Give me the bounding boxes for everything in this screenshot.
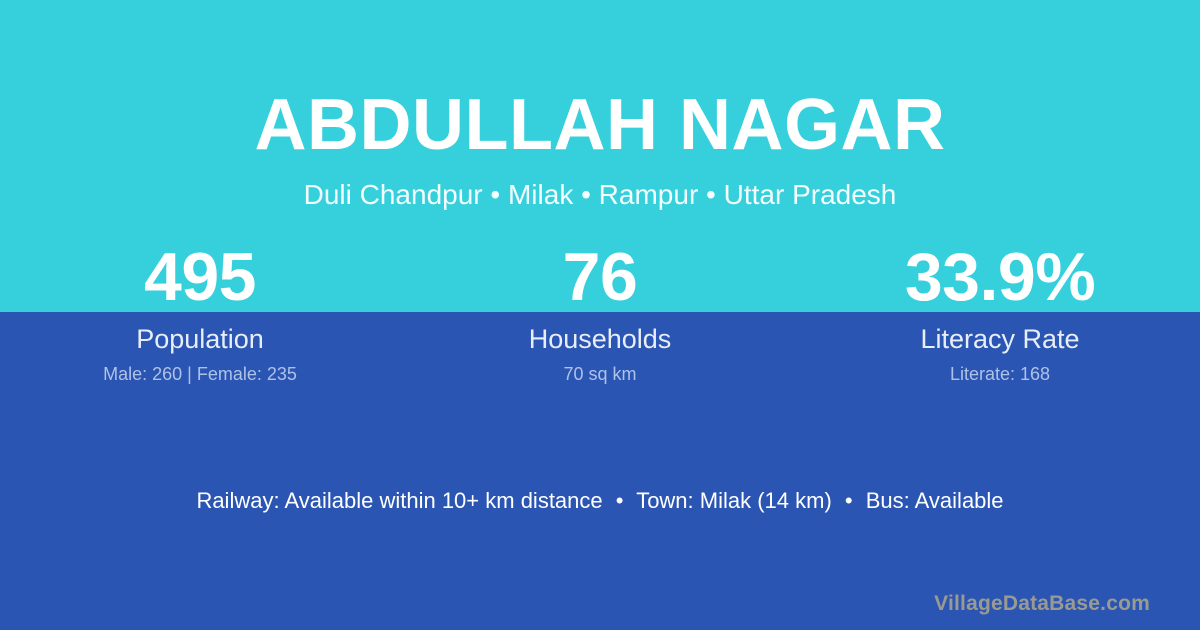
info-separator: •	[609, 488, 631, 513]
stat-value: 76	[400, 243, 800, 312]
stat-label: Literacy Rate	[800, 324, 1200, 354]
stat-label: Households	[400, 324, 800, 354]
site-brand: VillageDataBase.com	[934, 591, 1150, 617]
stat-value: 33.9%	[800, 243, 1200, 312]
stat-households: 76 Households 70 sq km	[400, 243, 800, 385]
stat-label: Population	[0, 324, 400, 354]
page-title: ABDULLAH NAGAR	[0, 0, 1200, 168]
amenities-info-line: Railway: Available within 10+ km distanc…	[0, 487, 1200, 515]
stat-sublabel: Male: 260 | Female: 235	[0, 363, 400, 385]
stat-sublabel: 70 sq km	[400, 363, 800, 385]
town-info: Town: Milak (14 km)	[636, 488, 832, 513]
stat-sublabel: Literate: 168	[800, 363, 1200, 385]
railway-info: Railway: Available within 10+ km distanc…	[196, 488, 602, 513]
stat-population: 495 Population Male: 260 | Female: 235	[0, 243, 400, 385]
info-separator: •	[838, 488, 860, 513]
stat-literacy-rate: 33.9% Literacy Rate Literate: 168	[800, 243, 1200, 385]
stats-row: 495 Population Male: 260 | Female: 235 7…	[0, 243, 1200, 385]
breadcrumb: Duli Chandpur • Milak • Rampur • Uttar P…	[0, 168, 1200, 212]
card-header: ABDULLAH NAGAR Duli Chandpur • Milak • R…	[0, 0, 1200, 212]
bus-info: Bus: Available	[866, 488, 1004, 513]
stat-value: 495	[0, 243, 400, 312]
village-info-card: ABDULLAH NAGAR Duli Chandpur • Milak • R…	[0, 0, 1200, 630]
